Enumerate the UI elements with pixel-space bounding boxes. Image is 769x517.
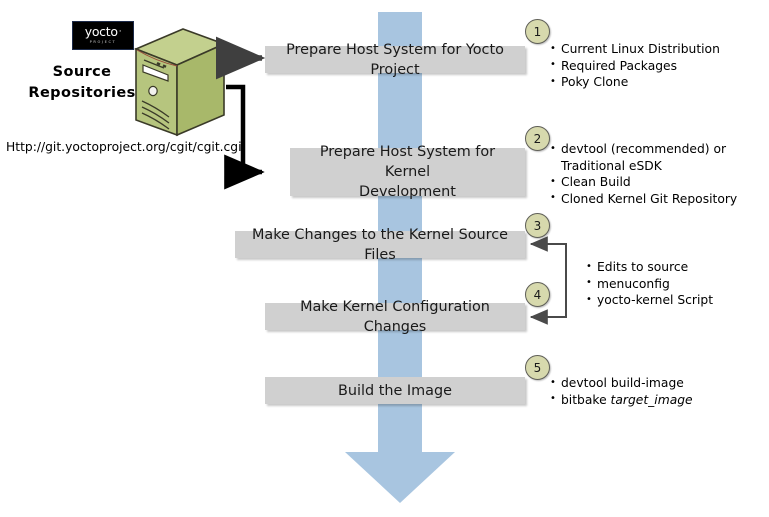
notes-steps-3-and-4: Edits to source menuconfig yocto-kernel … [585, 259, 713, 309]
note-item: yocto-kernel Script [585, 292, 713, 309]
step-badge-3-number: 3 [534, 219, 542, 233]
note-item: bitbake target_image [549, 392, 693, 409]
process-box-step-2-label-line-1: Prepare Host System for Kernel [298, 142, 517, 182]
process-box-step-4-label: Make Kernel Configuration Changes [273, 297, 517, 337]
note-item: Current Linux Distribution [549, 41, 720, 58]
note-item: devtool build-image [549, 375, 693, 392]
process-box-step-5[interactable]: Build the Image [265, 377, 525, 404]
notes-step-1: Current Linux Distribution Required Pack… [549, 41, 720, 91]
note-item: devtool (recommended) or [549, 141, 737, 158]
note-item: Clean Build [549, 174, 737, 191]
source-repositories-label: Source Repositories [16, 62, 148, 104]
step-badge-1-number: 1 [534, 25, 542, 39]
flow-arrow-head [345, 452, 455, 503]
process-box-step-1-label: Prepare Host System for Yocto Project [273, 40, 517, 80]
step-badge-5-number: 5 [534, 361, 542, 375]
note-item: Edits to source [585, 259, 713, 276]
step-badge-5: 5 [525, 355, 550, 380]
server-tower-icon [131, 27, 227, 139]
step-badge-1: 1 [525, 19, 550, 44]
step-badge-4-number: 4 [534, 288, 542, 302]
yocto-logo-dot: · [118, 27, 122, 37]
note-item: Poky Clone [549, 74, 720, 91]
note-item: Required Packages [549, 58, 720, 75]
note-item-continuation: Traditional eSDK [549, 158, 737, 175]
step-badge-4: 4 [525, 282, 550, 307]
note-item-command: bitbake [561, 393, 611, 407]
notes-step-5: devtool build-image bitbake target_image [549, 375, 693, 408]
yocto-logo-subtext: PROJECT [90, 39, 117, 45]
source-repository-url: Http://git.yoctoproject.org/cgit/cgit.cg… [6, 140, 242, 154]
source-label-line-2: Repositories [16, 83, 148, 104]
diagram-canvas: yocto· PROJECT Source Repositories Http:… [0, 0, 769, 517]
process-box-step-1[interactable]: Prepare Host System for Yocto Project [265, 46, 525, 73]
notes-step-2: devtool (recommended) or Traditional eSD… [549, 141, 737, 207]
connector-notes-to-step3 [531, 244, 566, 246]
step-badge-3: 3 [525, 213, 550, 238]
connector-server-to-step2 [226, 87, 262, 172]
note-item: menuconfig [585, 276, 713, 293]
process-box-step-2-label-line-2: Development [359, 182, 456, 202]
step-badge-2: 2 [525, 126, 550, 151]
note-item-argument: target_image [611, 393, 693, 407]
process-box-step-4[interactable]: Make Kernel Configuration Changes [265, 303, 525, 330]
process-box-step-3[interactable]: Make Changes to the Kernel Source Files [235, 231, 525, 258]
source-label-line-1: Source [16, 62, 148, 83]
yocto-logo-text: yocto [85, 24, 118, 39]
yocto-logo-wordmark: yocto· [85, 26, 122, 39]
process-box-step-5-label: Build the Image [338, 381, 452, 401]
process-box-step-3-label: Make Changes to the Kernel Source Files [243, 225, 517, 265]
note-item: Cloned Kernel Git Repository [549, 191, 737, 208]
yocto-project-logo: yocto· PROJECT [72, 21, 134, 50]
process-box-step-2[interactable]: Prepare Host System for Kernel Developme… [290, 148, 525, 196]
step-badge-2-number: 2 [534, 132, 542, 146]
